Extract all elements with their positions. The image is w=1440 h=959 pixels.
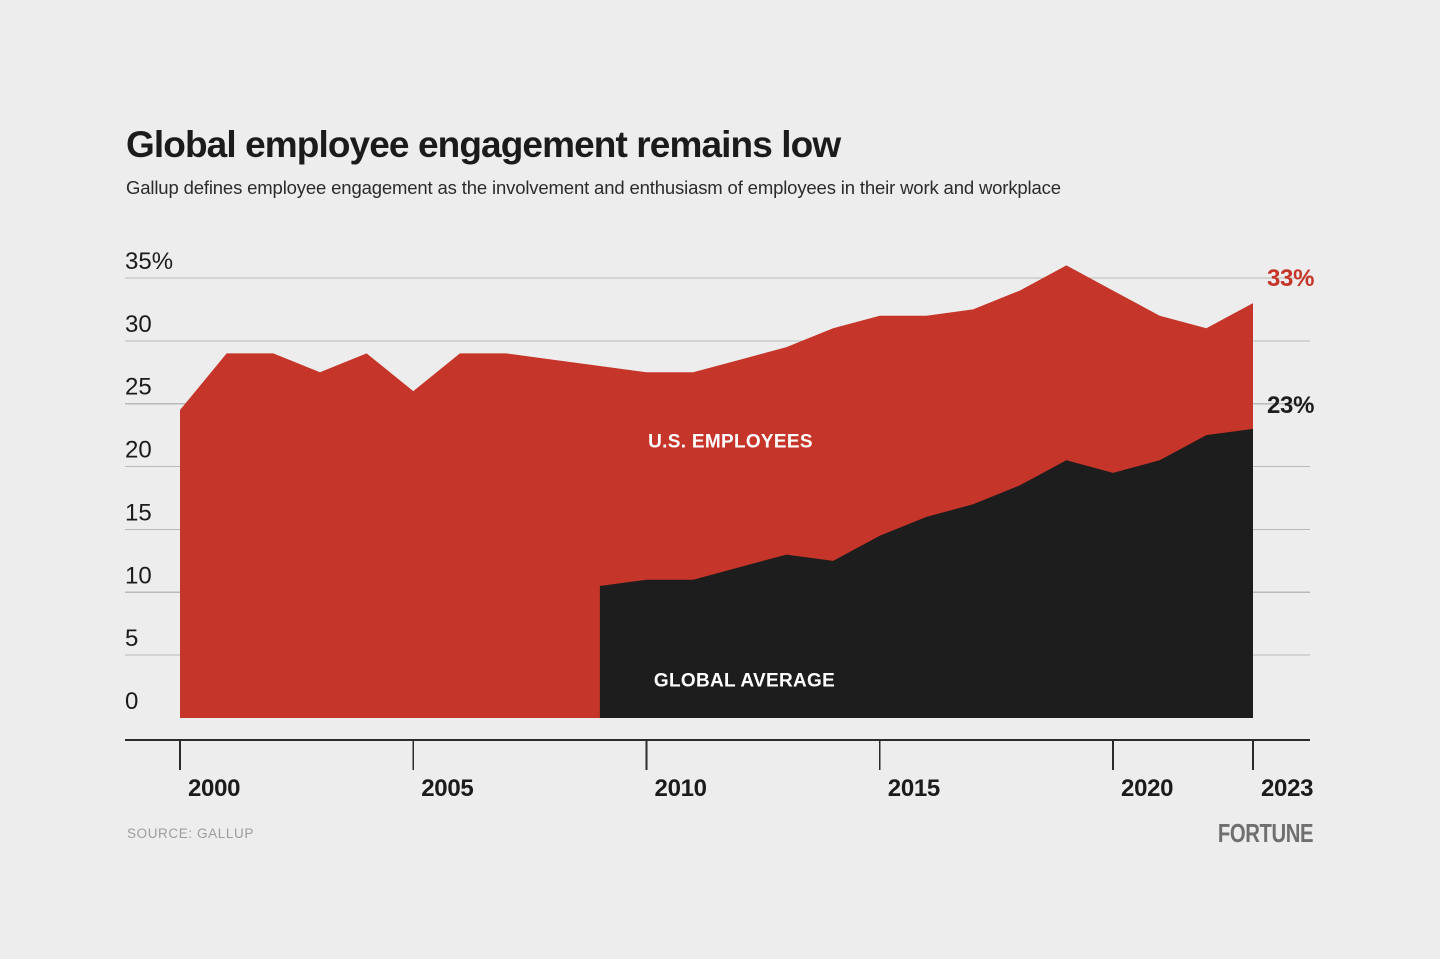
ytick-labels-group: 05101520253035% xyxy=(125,248,173,715)
chart-figure: Global employee engagement remains low G… xyxy=(0,0,1440,959)
xtick-labels-group: 200020052010201520202023 xyxy=(188,775,1313,802)
axis-group xyxy=(125,740,1310,770)
y-axis-tick-label: 0 xyxy=(125,688,138,715)
areas-group xyxy=(180,265,1253,718)
y-axis-tick-label: 30 xyxy=(125,311,152,338)
end-value-labels-group: 33%23% xyxy=(1267,265,1314,419)
y-axis-tick-label: 25 xyxy=(125,374,152,401)
y-axis-tick-label: 10 xyxy=(125,562,152,589)
x-axis-tick-label: 2015 xyxy=(888,775,940,802)
x-axis-tick-label: 2020 xyxy=(1121,775,1173,802)
x-axis-tick-label: 2010 xyxy=(655,775,707,802)
series-label-us-employees: U.S. EMPLOYEES xyxy=(648,432,813,453)
y-axis-tick-label: 35% xyxy=(125,248,173,275)
chart-plot-area: 05101520253035% 200020052010201520202023… xyxy=(0,0,1440,959)
x-axis-tick-label: 2023 xyxy=(1261,775,1313,802)
y-axis-tick-label: 15 xyxy=(125,499,152,526)
source-note: SOURCE: GALLUP xyxy=(127,826,254,841)
area-chart-svg: 05101520253035% 200020052010201520202023… xyxy=(0,0,1440,959)
fortune-logo: FORTUNE xyxy=(1218,818,1313,849)
y-axis-tick-label: 20 xyxy=(125,437,152,464)
series-label-global-average: GLOBAL AVERAGE xyxy=(654,671,835,692)
x-axis-tick-label: 2005 xyxy=(421,775,473,802)
x-axis-tick-label: 2000 xyxy=(188,775,240,802)
end-value-label-global-average: 23% xyxy=(1267,392,1314,419)
y-axis-tick-label: 5 xyxy=(125,625,138,652)
end-value-label-us-employees: 33% xyxy=(1267,265,1314,292)
